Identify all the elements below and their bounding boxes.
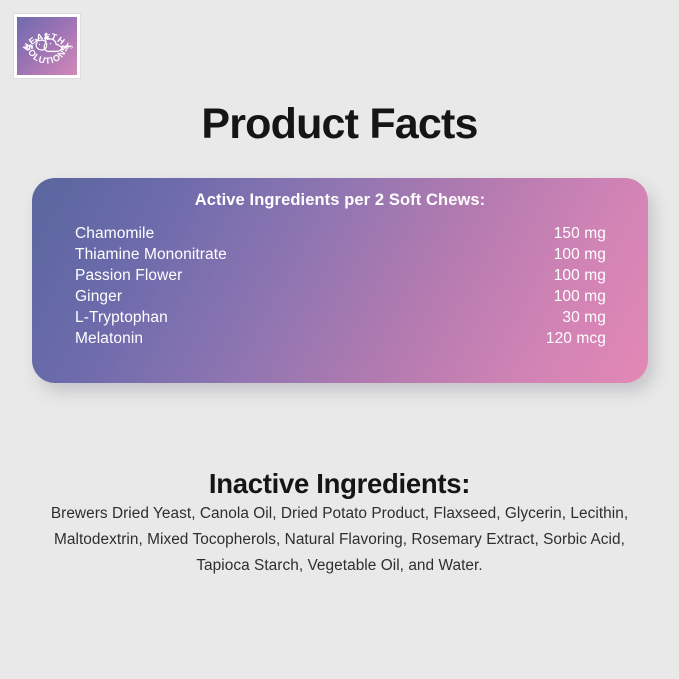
inactive-ingredients-body: Brewers Dried Yeast, Canola Oil, Dried P…: [39, 501, 640, 579]
ingredient-name: Passion Flower: [75, 267, 182, 285]
ingredient-name: Melatonin: [75, 330, 143, 348]
ingredient-row: Ginger 100 mg: [75, 288, 606, 309]
ingredient-amount: 120 mcg: [538, 330, 606, 348]
ingredient-row: Thiamine Mononitrate 100 mg: [75, 246, 606, 267]
leader-dots: [159, 234, 535, 235]
active-ingredients-card: Active Ingredients per 2 Soft Chews: Cha…: [32, 178, 648, 383]
leader-dots: [148, 339, 535, 340]
brand-logo: HEALTHY SOLUTIONS FOR PETS: [14, 14, 80, 78]
ingredient-row: Passion Flower 100 mg: [75, 267, 606, 288]
ingredient-row: Chamomile 150 mg: [75, 225, 606, 246]
logo-left-text: FOR: [24, 44, 34, 49]
inactive-line: Maltodextrin, Mixed Tocopherols, Natural…: [39, 527, 640, 553]
leader-dots: [127, 297, 535, 298]
leader-dots: [173, 318, 535, 319]
active-ingredients-header: Active Ingredients per 2 Soft Chews:: [32, 191, 648, 210]
ingredient-amount: 100 mg: [538, 246, 606, 264]
ingredient-row: Melatonin 120 mcg: [75, 330, 606, 351]
ingredient-name: Thiamine Mononitrate: [75, 246, 227, 264]
ingredient-amount: 100 mg: [538, 267, 606, 285]
inactive-ingredients-title: Inactive Ingredients:: [0, 468, 679, 500]
brand-logo-artwork: HEALTHY SOLUTIONS FOR PETS: [17, 17, 77, 75]
ingredient-name: Chamomile: [75, 225, 154, 243]
ingredient-row: L-Tryptophan 30 mg: [75, 309, 606, 330]
page-title: Product Facts: [0, 103, 679, 146]
ingredient-amount: 100 mg: [538, 288, 606, 306]
ingredient-name: L-Tryptophan: [75, 309, 168, 327]
ingredient-amount: 30 mg: [538, 309, 606, 327]
inactive-line: Tapioca Starch, Vegetable Oil, and Water…: [39, 553, 640, 579]
inactive-line: Brewers Dried Yeast, Canola Oil, Dried P…: [39, 501, 640, 527]
leader-dots: [232, 255, 535, 256]
active-ingredients-list: Chamomile 150 mg Thiamine Mononitrate 10…: [32, 225, 648, 351]
leader-dots: [187, 276, 535, 277]
ingredient-amount: 150 mg: [538, 225, 606, 243]
ingredient-name: Ginger: [75, 288, 122, 306]
